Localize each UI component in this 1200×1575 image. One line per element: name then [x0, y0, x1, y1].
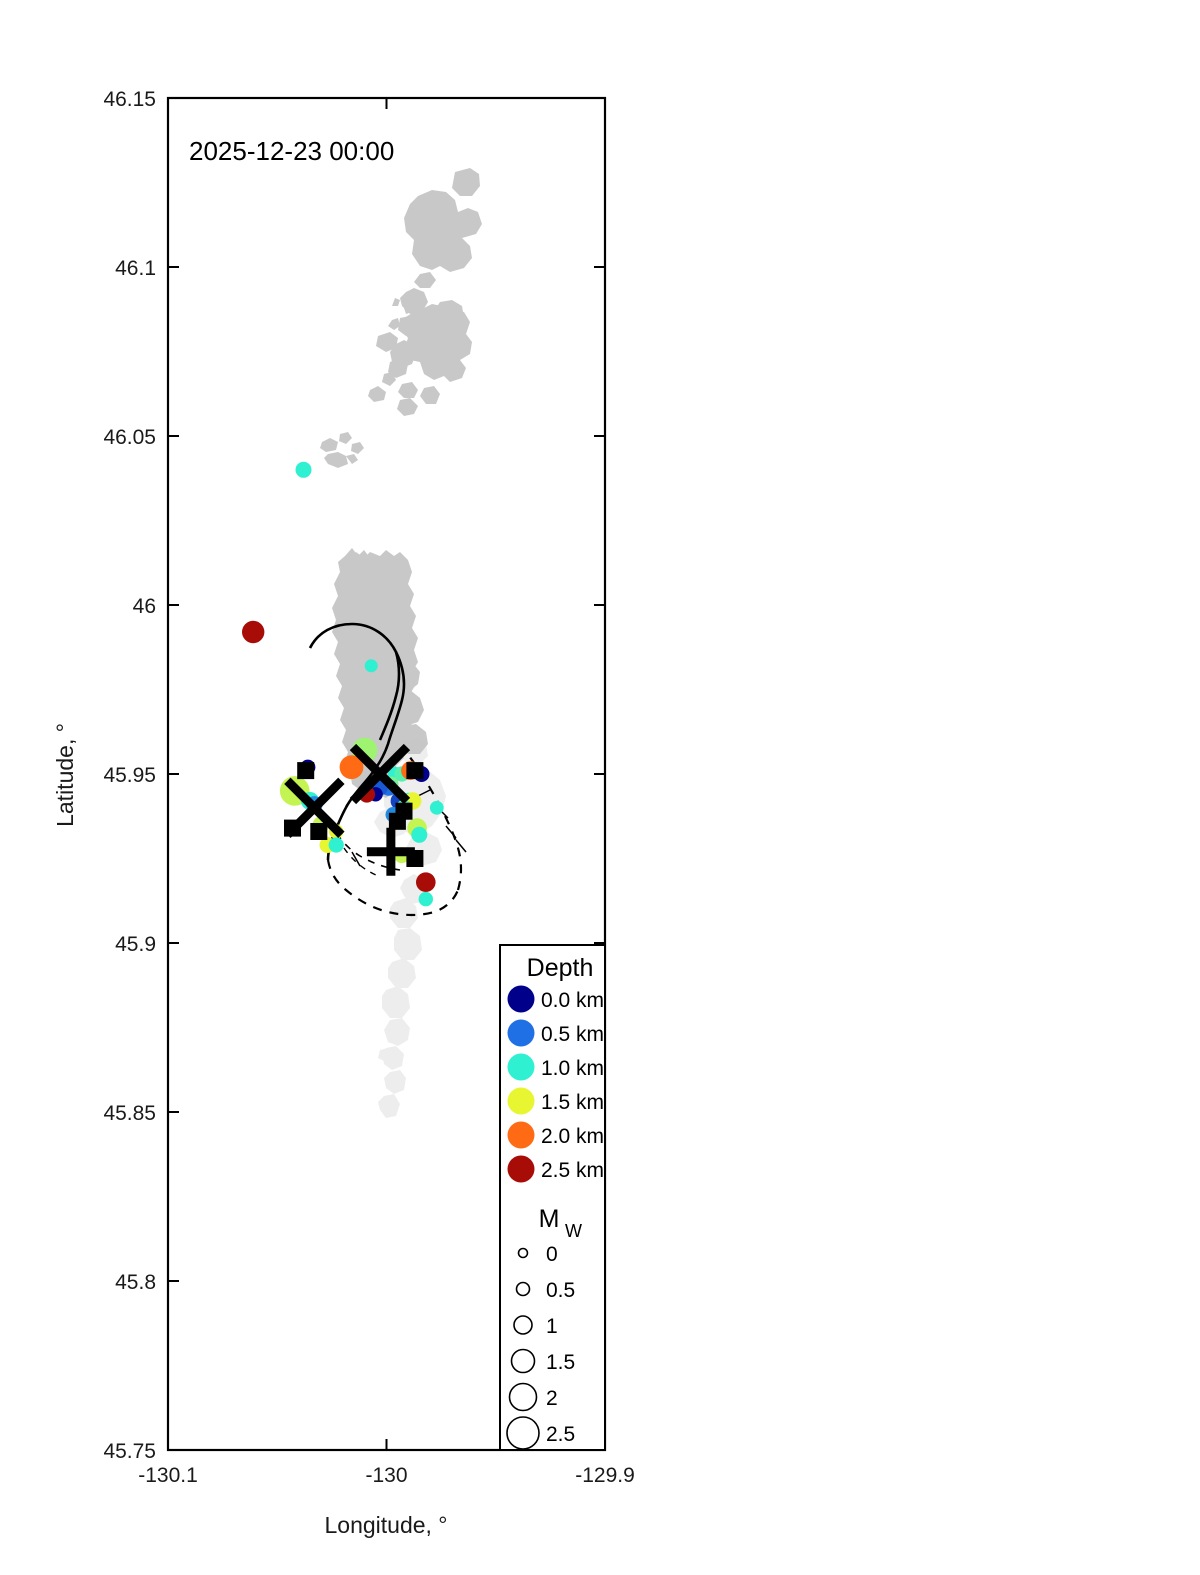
y-tick-label: 45.9	[115, 933, 156, 956]
earthquake-marker	[365, 659, 378, 672]
mag-legend-swatch	[517, 1283, 530, 1296]
depth-legend-label: 0.5 km	[541, 1023, 604, 1046]
earthquake-marker	[329, 837, 344, 852]
y-tick-label: 46	[133, 595, 156, 618]
earthquake-marker	[430, 801, 444, 815]
mag-legend-swatch	[514, 1316, 532, 1334]
y-tick-label: 45.8	[115, 1271, 156, 1294]
map-svg: 46.1546.146.054645.9545.945.8545.845.75 …	[0, 0, 1200, 1575]
depth-legend-label: 1.0 km	[541, 1057, 604, 1080]
mag-legend-swatch	[519, 1249, 528, 1258]
earthquake-marker	[296, 462, 312, 478]
depth-legend-swatch	[508, 1156, 535, 1183]
x-axis-label: Longitude, °	[324, 1512, 447, 1538]
y-tick-label: 45.85	[103, 1102, 156, 1125]
earthquake-marker	[416, 872, 436, 892]
x-tick-label: -130.1	[138, 1464, 198, 1487]
earthquake-marker	[242, 621, 264, 643]
depth-legend-label: 2.0 km	[541, 1125, 604, 1148]
y-tick-label: 46.1	[115, 257, 156, 280]
mag-legend-label: 2.5	[546, 1423, 575, 1446]
x-tick-label: -129.9	[575, 1464, 635, 1487]
depth-legend-swatch	[508, 1122, 535, 1149]
depth-legend-label: 0.0 km	[541, 989, 604, 1012]
depth-legend-swatch	[508, 1088, 535, 1115]
earthquake-marker	[411, 827, 427, 843]
legend-mag-title-sub: W	[565, 1221, 582, 1241]
depth-legend-swatch	[508, 1020, 535, 1047]
mag-legend-label: 1.5	[546, 1351, 575, 1374]
mag-legend-label: 2	[546, 1387, 558, 1410]
mag-legend-label: 0	[546, 1243, 558, 1266]
station-marker	[297, 762, 314, 779]
mag-legend-label: 1	[546, 1315, 558, 1338]
mag-legend-swatch	[507, 1417, 539, 1449]
mag-legend-swatch	[510, 1384, 537, 1411]
depth-legend-swatch	[508, 986, 535, 1013]
depth-legend-label: 1.5 km	[541, 1091, 604, 1114]
earthquake-marker	[419, 892, 433, 906]
y-tick-label: 45.75	[103, 1440, 156, 1463]
mag-legend-swatch	[512, 1350, 535, 1373]
station-marker	[310, 823, 327, 840]
y-axis-label: Latitude, °	[52, 723, 78, 827]
station-marker	[389, 813, 406, 830]
mag-legend-label: 0.5	[546, 1279, 575, 1302]
depth-legend-swatch	[508, 1054, 535, 1081]
seismicity-map-figure: 46.1546.146.054645.9545.945.8545.845.75 …	[0, 0, 1200, 1575]
legend-mag-title: M	[539, 1205, 560, 1233]
station-marker	[406, 762, 423, 779]
depth-legend-label: 2.5 km	[541, 1159, 604, 1182]
plot-title: 2025-12-23 00:00	[189, 136, 394, 166]
x-tick-label: -130	[365, 1464, 407, 1487]
y-tick-label: 45.95	[103, 764, 156, 787]
y-tick-label: 46.15	[103, 88, 156, 111]
y-tick-label: 46.05	[103, 426, 156, 449]
legend-depth-title: Depth	[527, 954, 594, 982]
